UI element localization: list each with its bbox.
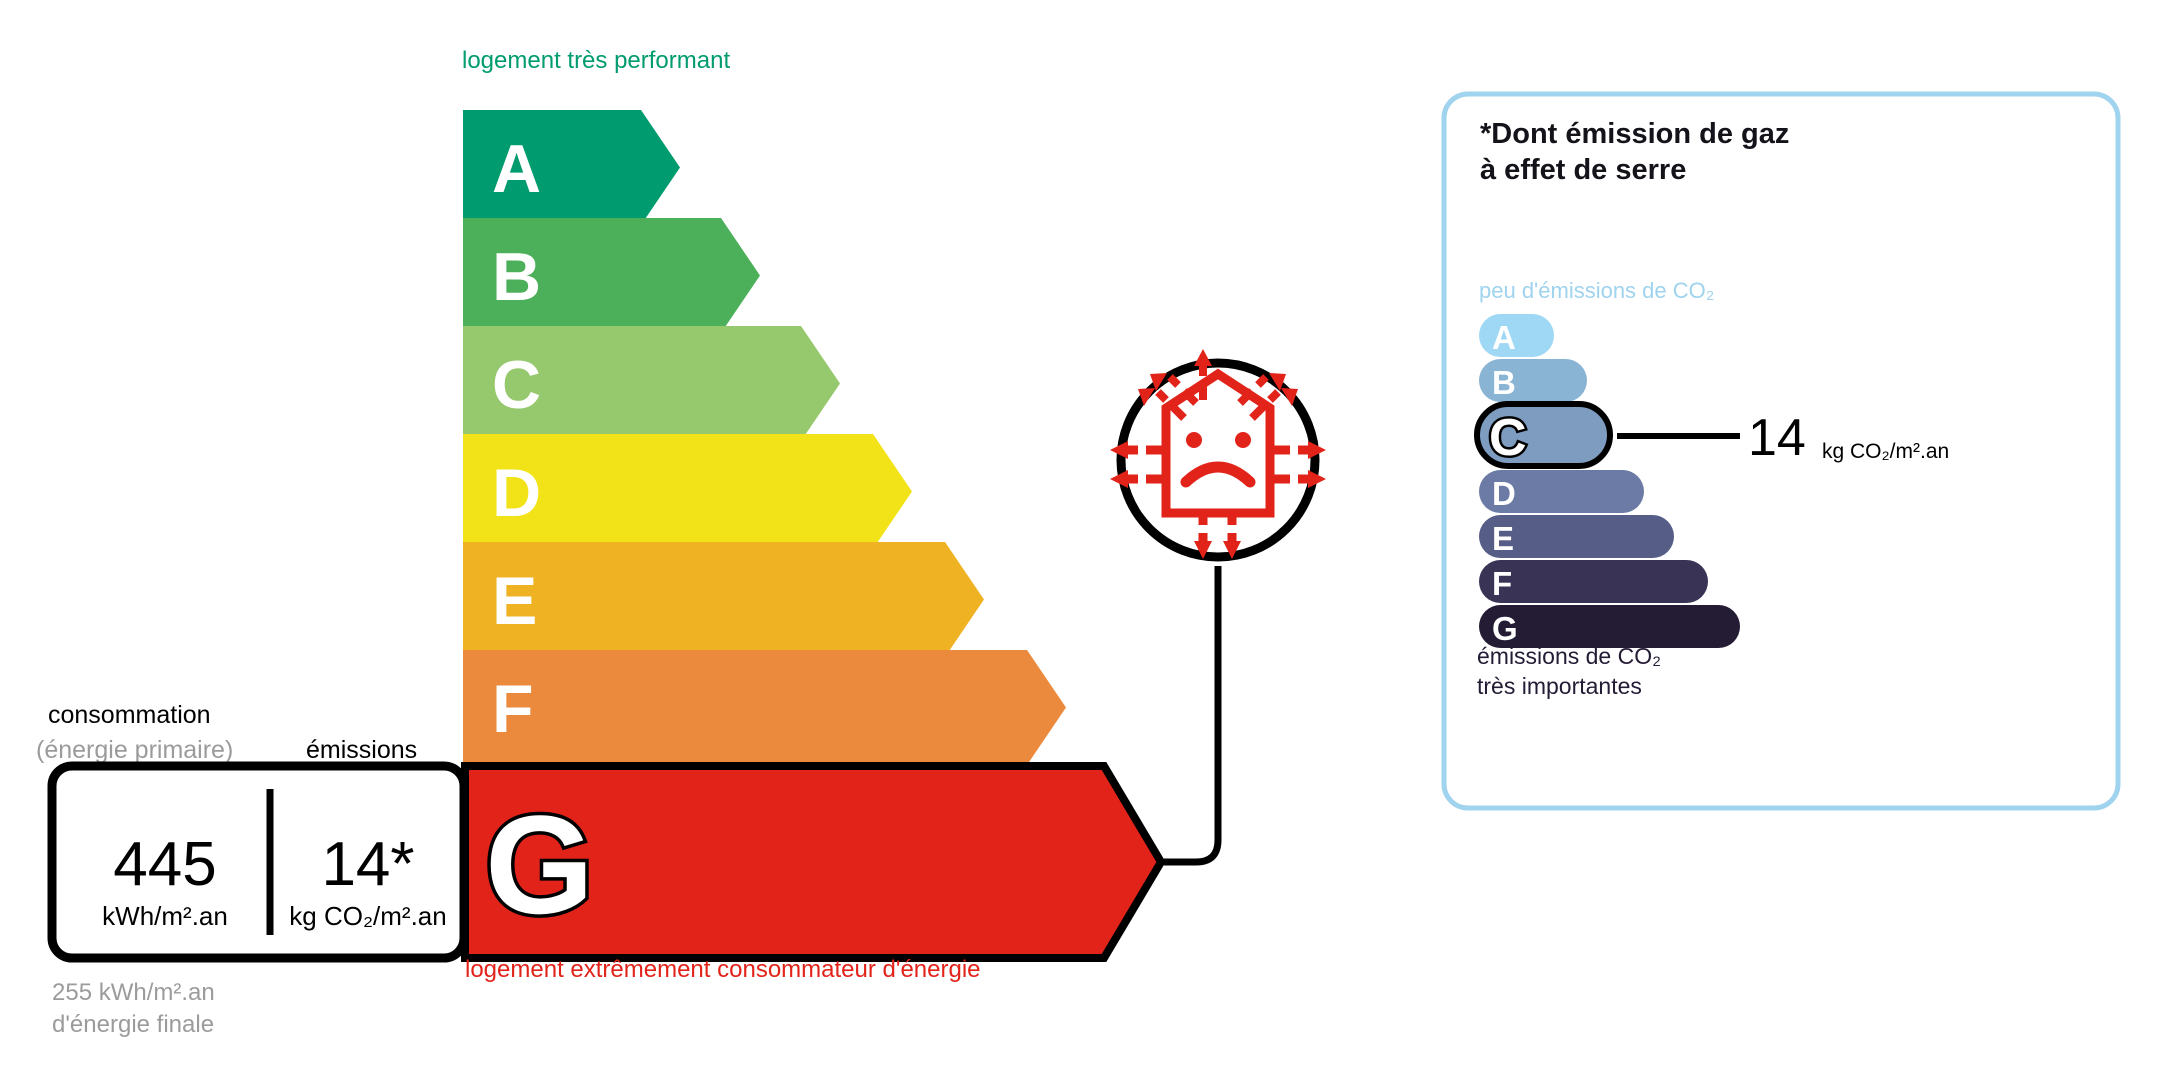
energy-bar-d-letter: D — [492, 455, 541, 531]
energy-bar-g[interactable]: G — [465, 766, 1161, 958]
ges-value: 14 — [1748, 409, 1806, 467]
ges-bottom-label-line2: très importantes — [1477, 673, 1642, 699]
emission-unit: kg CO₂/m².an — [289, 901, 446, 931]
energy-bar-d[interactable]: D — [463, 434, 912, 549]
ges-card-title-line1: *Dont émission de gaz — [1480, 118, 1789, 150]
ges-bar-f[interactable]: F — [1479, 560, 1708, 603]
energy-bar-a[interactable]: A — [463, 110, 680, 225]
energy-bars: A B C D E F — [463, 110, 1066, 765]
energy-bar-f[interactable]: F — [463, 650, 1066, 765]
ges-bar-b-letter: B — [1492, 364, 1516, 401]
ges-bar-d[interactable]: D — [1479, 470, 1644, 513]
dpe-diagram: logement très performant A B C D E — [0, 0, 2169, 1079]
value-box: 445 kWh/m².an 14* kg CO₂/m².an — [52, 766, 464, 958]
ges-card: *Dont émission de gaz à effet de serre p… — [1444, 94, 2118, 808]
ges-unit: kg CO₂/m².an — [1822, 440, 1949, 463]
ges-bar-b[interactable]: B — [1479, 359, 1587, 402]
emissions-label: émissions — [306, 736, 417, 764]
energy-bar-b[interactable]: B — [463, 218, 760, 333]
ges-bar-c[interactable]: C — [1477, 404, 1610, 467]
ges-bar-g-shape — [1479, 605, 1740, 648]
ges-bar-a[interactable]: A — [1479, 314, 1554, 357]
energy-bottom-label: logement extrêmement consommateur d'éner… — [465, 956, 981, 983]
ges-bar-f-shape — [1479, 560, 1708, 603]
consommation-label: consommation — [48, 701, 211, 729]
ges-bar-a-shape — [1479, 314, 1554, 357]
energy-bar-e[interactable]: E — [463, 542, 984, 657]
ges-bottom-label-line1: émissions de CO₂ — [1477, 643, 1661, 669]
final-energy-line1: 255 kWh/m².an — [52, 979, 215, 1006]
sad-house-badge[interactable] — [1110, 349, 1326, 559]
emission-value: 14* — [321, 830, 414, 899]
ges-bar-e[interactable]: E — [1479, 515, 1674, 558]
consommation-sub-label: (énergie primaire) — [36, 736, 233, 764]
ges-bar-f-letter: F — [1492, 565, 1512, 602]
ges-bar-a-letter: A — [1492, 319, 1516, 356]
ges-card-title-line2: à effet de serre — [1480, 154, 1686, 186]
final-energy-line2: d'énergie finale — [52, 1011, 214, 1038]
energy-bar-c-letter: C — [492, 347, 541, 423]
primary-energy-value: 445 — [113, 830, 216, 899]
energy-bar-f-letter: F — [492, 671, 534, 747]
energy-bar-e-letter: E — [492, 563, 537, 639]
ges-bar-d-letter: D — [1492, 475, 1516, 512]
ges-top-label: peu d'émissions de CO₂ — [1479, 278, 1714, 303]
energy-bar-c[interactable]: C — [463, 326, 840, 441]
energy-bar-e-shape — [463, 542, 984, 657]
ges-bar-e-letter: E — [1492, 520, 1514, 557]
energy-bar-a-letter: A — [492, 131, 541, 207]
energy-bar-f-shape — [463, 650, 1066, 765]
primary-energy-unit: kWh/m².an — [102, 901, 228, 931]
energy-bar-b-letter: B — [492, 239, 541, 315]
ges-bar-g-letter: G — [1492, 610, 1518, 647]
ges-bar-g[interactable]: G — [1479, 605, 1740, 648]
dpe-stage: logement très performant A B C D E — [0, 0, 2169, 1079]
energy-bar-g-letter: G — [485, 786, 594, 943]
energy-top-label: logement très performant — [462, 47, 730, 74]
ges-bar-c-letter: C — [1489, 409, 1527, 467]
badge-connector-line — [1161, 566, 1218, 862]
